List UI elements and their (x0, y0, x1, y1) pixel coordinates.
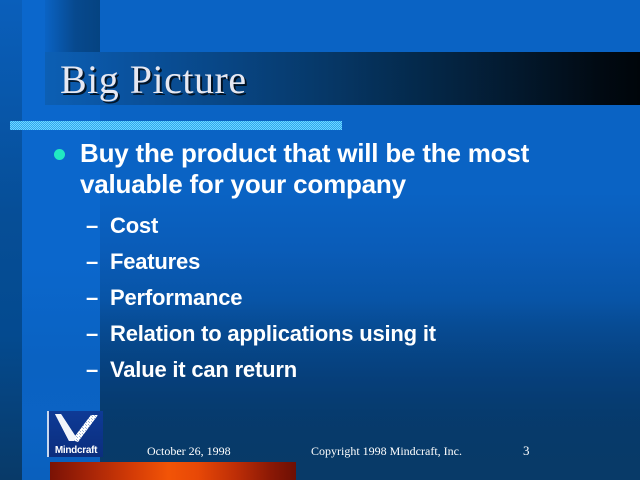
background-top-dark-block (45, 0, 100, 52)
logo-wordmark: Mindcraft (49, 445, 103, 456)
title-divider-rule (10, 121, 342, 130)
sub-bullet-item-performance: – Performance (86, 280, 640, 316)
slide-title: Big Picture (60, 57, 247, 103)
sub-bullet-item-cost: – Cost (86, 208, 640, 244)
mindcraft-logo: Mindcraft (47, 411, 103, 457)
en-dash-icon: – (86, 208, 98, 244)
sub-bullet-text: Relation to applications using it (110, 321, 436, 346)
bullet-dot-icon (54, 149, 65, 160)
en-dash-icon: – (86, 316, 98, 352)
sub-bullet-text: Features (110, 249, 200, 274)
bullet-text-primary: Buy the product that will be the most va… (80, 138, 529, 199)
sub-bullet-list: – Cost – Features – Performance – Relati… (0, 208, 640, 388)
footer-page-number: 3 (523, 443, 530, 459)
sub-bullet-item-relation: – Relation to applications using it (86, 316, 640, 352)
footer-accent-bar (50, 462, 296, 480)
footer-date: October 26, 1998 (147, 444, 231, 459)
footer-copyright: Copyright 1998 Mindcraft, Inc. (311, 444, 462, 459)
en-dash-icon: – (86, 352, 98, 388)
presentation-slide: Big Picture Buy the product that will be… (0, 0, 640, 480)
sub-bullet-text: Value it can return (110, 357, 297, 382)
bullet-item-primary: Buy the product that will be the most va… (52, 138, 620, 200)
en-dash-icon: – (86, 244, 98, 280)
sub-bullet-text: Cost (110, 213, 158, 238)
checkmark-v-icon (53, 413, 101, 443)
slide-body: Buy the product that will be the most va… (0, 138, 640, 388)
en-dash-icon: – (86, 280, 98, 316)
sub-bullet-item-features: – Features (86, 244, 640, 280)
sub-bullet-item-value: – Value it can return (86, 352, 640, 388)
sub-bullet-text: Performance (110, 285, 242, 310)
